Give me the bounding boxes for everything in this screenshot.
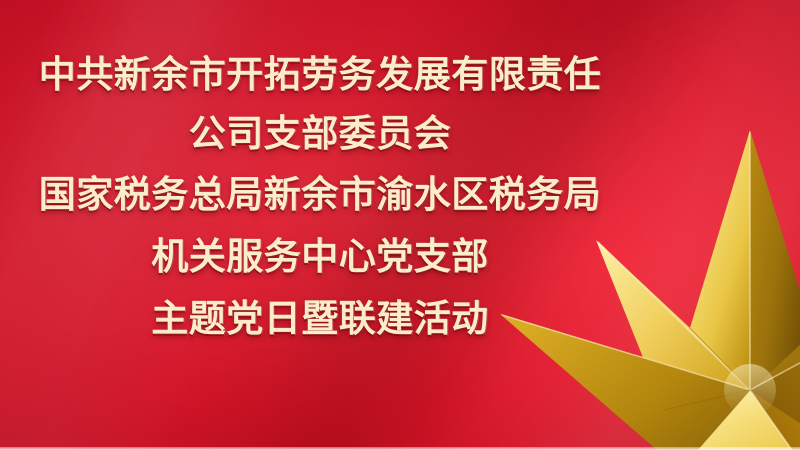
headline-line-3: 国家税务总局新余市渝水区税务局 <box>0 164 640 226</box>
headline-line-2: 公司支部委员会 <box>0 104 640 164</box>
poster-headline-block: 中共新余市开拓劳务发展有限责任 公司支部委员会 国家税务总局新余市渝水区税务局 … <box>0 46 640 350</box>
poster-canvas: 中共新余市开拓劳务发展有限责任 公司支部委员会 国家税务总局新余市渝水区税务局 … <box>0 0 800 450</box>
headline-line-5: 主题党日暨联建活动 <box>0 288 640 350</box>
headline-line-1: 中共新余市开拓劳务发展有限责任 <box>0 46 640 104</box>
headline-line-4: 机关服务中心党支部 <box>0 226 640 288</box>
